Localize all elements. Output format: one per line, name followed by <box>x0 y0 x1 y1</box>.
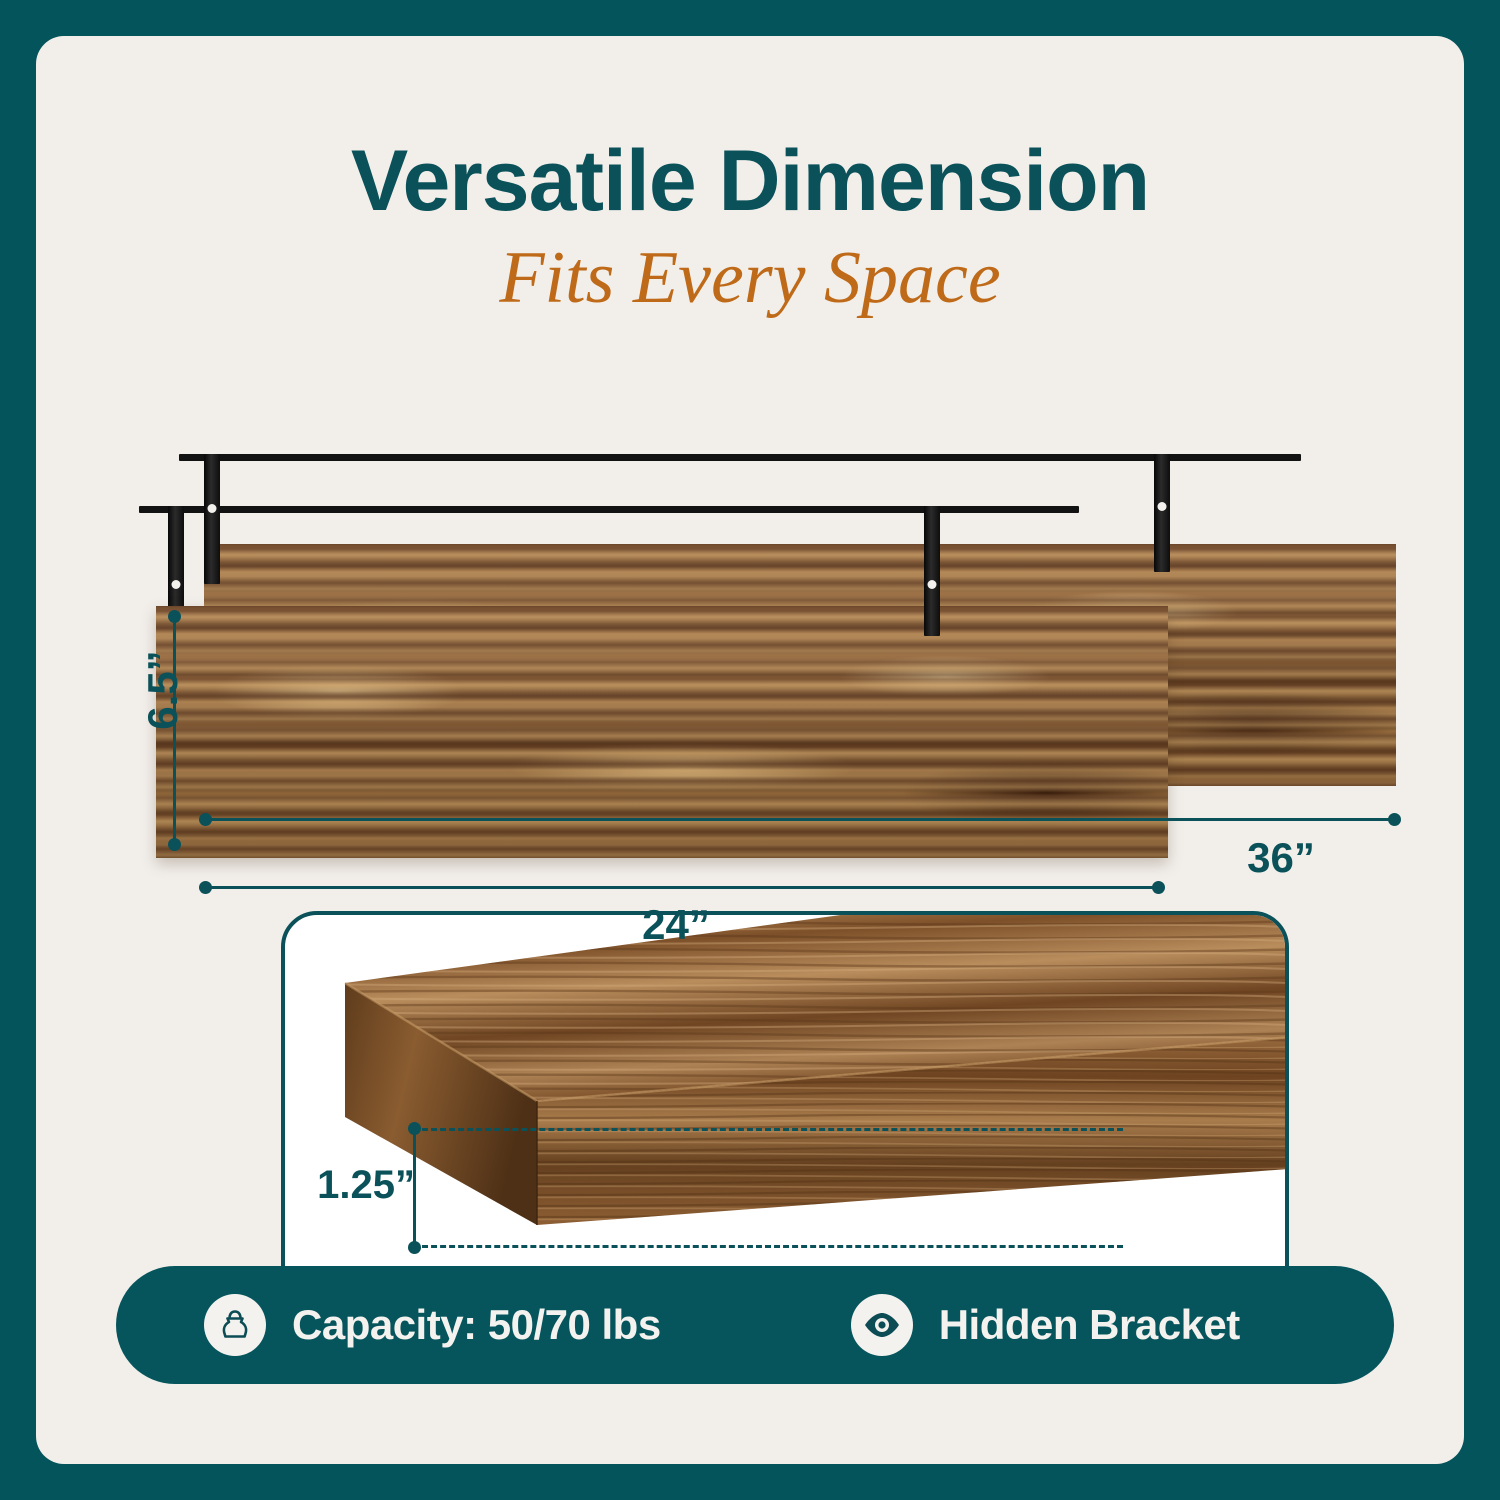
infographic-root: Versatile Dimension Fits Every Space <box>0 0 1500 1500</box>
screw-hole-icon <box>1158 502 1167 511</box>
dimension-cap <box>168 838 181 851</box>
kettlebell-icon <box>204 1294 266 1356</box>
shelf-dimension-diagram: 6.5” 36” 24” <box>36 366 1464 926</box>
screw-hole-icon <box>172 580 181 589</box>
dimension-cap <box>408 1122 421 1135</box>
eye-icon <box>851 1294 913 1356</box>
depth-dimension-label: 6.5” <box>139 625 187 755</box>
content-panel: Versatile Dimension Fits Every Space <box>36 36 1464 1464</box>
dimension-cap <box>408 1241 421 1254</box>
feature-capacity-label: Capacity: 50/70 lbs <box>292 1301 661 1349</box>
dimension-cap <box>1152 881 1165 894</box>
screw-hole-icon <box>208 504 217 513</box>
bracket-rail-back <box>179 454 1301 461</box>
feature-hidden-bracket: Hidden Bracket <box>851 1294 1240 1356</box>
feature-bar: Capacity: 50/70 lbs Hidden Bracket <box>116 1266 1394 1384</box>
front-shelf-dimension-line <box>204 886 1160 889</box>
page-subtitle: Fits Every Space <box>36 236 1464 321</box>
bracket-post-back-left <box>204 454 220 584</box>
bracket-post-front-right <box>924 506 940 636</box>
page-title: Versatile Dimension <box>36 132 1464 231</box>
back-shelf-dimension-label: 36” <box>1181 834 1381 882</box>
feature-capacity: Capacity: 50/70 lbs <box>204 1294 661 1356</box>
front-shelf-dimension-label: 24” <box>596 901 756 949</box>
bracket-post-back-right <box>1154 454 1170 572</box>
dimension-cap <box>199 813 212 826</box>
screw-hole-icon <box>928 580 937 589</box>
dimension-cap <box>1388 813 1401 826</box>
shelf-3d-illustration <box>305 911 1289 1285</box>
dimension-cap <box>199 881 212 894</box>
back-shelf-dimension-line <box>204 818 1396 821</box>
dimension-cap <box>168 610 181 623</box>
feature-hidden-bracket-label: Hidden Bracket <box>939 1301 1240 1349</box>
thickness-leader-bottom <box>413 1245 1123 1248</box>
thickness-leader-top <box>413 1128 1123 1131</box>
thickness-dimension-label: 1.25” <box>281 1163 415 1208</box>
